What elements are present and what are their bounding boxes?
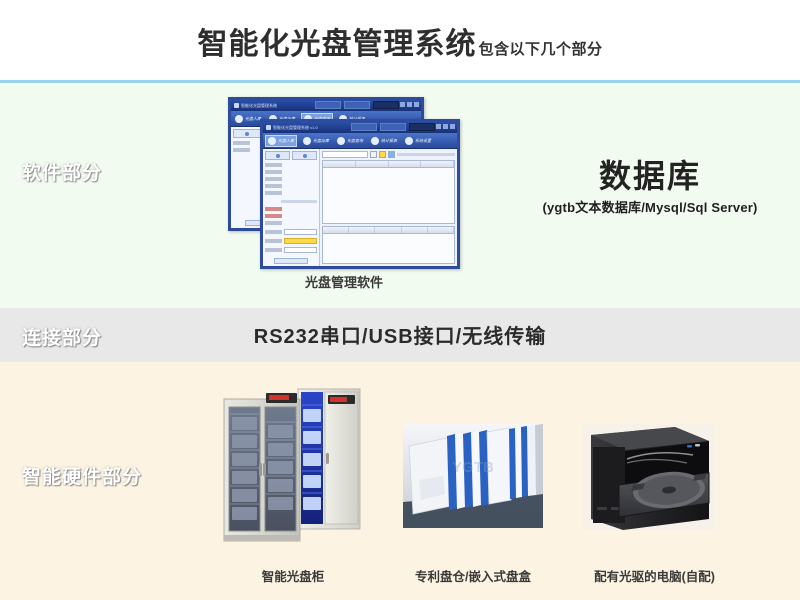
tab-dot-icon [303,154,307,158]
form-field-row-required [265,207,317,211]
database-block: 数据库 (ygtb文本数据库/Mysql/Sql Server) [520,160,780,216]
window-body [263,149,457,266]
window-tab-active[interactable] [373,101,399,109]
folder-icon[interactable] [379,151,386,158]
page-header: 智能化光盘管理系统 包含以下几个部分 [0,0,800,82]
connection-methods-text: RS232串口/USB接口/无线传输 [0,320,800,349]
search-input[interactable] [322,151,368,158]
toolbar-button-label: 系统设置 [415,138,431,144]
software-band-label: 软件部分 [22,158,102,185]
page-subtitle: 包含以下几个部分 [478,38,602,59]
hardware-caption-computer: 配有光驱的电脑(自配) [557,566,752,585]
window-tab[interactable] [351,123,377,131]
report-icon [371,137,379,145]
cabinet-left [224,393,300,541]
software-screenshot-stack: 智能化光盘管理系统 光盘入库 光盘出库 光盘查询 统计报表 [228,97,460,269]
page-title: 智能化光盘管理系统 [197,19,476,63]
toolbar-button-label: 光盘入库 [245,116,261,122]
disc-in-icon [235,115,243,123]
grid-column[interactable] [389,161,422,167]
toolbar-button-label: 光盘出库 [313,138,329,144]
data-grid-body[interactable] [323,168,454,223]
panel-note [281,200,317,203]
software-window-front[interactable]: 智能化光盘管理系统 v1.0 光盘入库 光盘出库 光盘查询 统计报表 系统设置 [260,119,460,269]
window-controls[interactable] [400,102,419,107]
window-titlebar: 智能化光盘管理系统 v1.0 [263,122,457,133]
tab-dot-icon [245,132,249,136]
data-grid-header [323,161,454,168]
watermark-text: YGTB [452,459,494,476]
side-panel-tabs [265,151,317,160]
text-input[interactable] [284,247,317,253]
toolbar-button-label: 统计报表 [381,138,397,144]
field-label [265,170,282,174]
close-icon[interactable] [414,102,419,107]
window-app-icon [234,103,239,108]
hardware-caption-cartridge: 专利盘仓/嵌入式盘盒 [383,566,563,585]
disc-query-icon [337,137,345,145]
required-field-label [265,214,282,218]
grid-column[interactable] [428,227,454,233]
search-bar [322,151,455,158]
window-titlebar: 智能化光盘管理系统 [231,100,421,111]
window-toolbar: 光盘入库 光盘出库 光盘查询 统计报表 系统设置 [263,133,457,149]
computer-optical-drive-image [583,423,715,530]
search-status-text [397,153,455,156]
form-field-row [265,221,317,225]
disc-cartridge-image: YGTB [403,424,543,528]
hardware-caption-cabinet: 智能光盘柜 [203,566,383,585]
field-label [265,177,282,181]
window-title-text: 智能化光盘管理系统 [241,103,277,109]
minimize-icon[interactable] [436,124,441,129]
submit-button[interactable] [274,258,308,264]
form-field-row [265,184,317,188]
side-tab[interactable] [233,129,261,138]
maximize-icon[interactable] [407,102,412,107]
database-title: 数据库 [520,160,780,194]
window-title-text: 智能化光盘管理系统 v1.0 [273,125,318,131]
window-tab[interactable] [380,123,406,131]
grid-column[interactable] [356,161,389,167]
data-grid-top[interactable] [322,160,455,224]
field-label [265,239,282,243]
form-input-row-highlight [265,238,317,244]
side-tab[interactable] [265,151,290,160]
window-app-icon [266,125,271,130]
toolbar-button-label: 光盘查询 [347,138,363,144]
field-label [265,184,282,188]
export-icon[interactable] [388,151,395,158]
field-label [265,191,282,195]
window-controls[interactable] [436,124,455,129]
disc-out-icon [303,137,311,145]
window-tab-active[interactable] [409,123,435,131]
form-field-row [265,177,317,181]
grid-column[interactable] [323,161,356,167]
toolbar-button[interactable]: 统计报表 [369,136,399,146]
field-label [265,163,282,167]
field-label [233,148,250,152]
close-icon[interactable] [450,124,455,129]
minimize-icon[interactable] [400,102,405,107]
window-side-panel [263,149,320,266]
data-grid-body[interactable] [323,234,454,263]
grid-column[interactable] [421,161,454,167]
window-tab-strip [351,123,435,131]
window-tab-strip [315,101,399,109]
form-input-row [265,247,317,253]
window-tab[interactable] [344,101,370,109]
toolbar-button-label: 光盘入库 [278,138,294,144]
side-tab[interactable] [292,151,317,160]
highlighted-input[interactable] [284,238,317,244]
text-input[interactable] [284,229,317,235]
search-icon[interactable] [370,151,377,158]
toolbar-button-selected[interactable]: 光盘入库 [265,135,297,147]
hardware-band-label: 智能硬件部分 [22,462,142,489]
grid-column[interactable] [402,227,428,233]
tab-dot-icon [276,154,280,158]
smart-disc-cabinet-image [218,383,368,546]
form-input-row [265,229,317,235]
data-grid-bottom[interactable] [322,226,455,264]
window-main-panel [320,149,457,266]
grid-column[interactable] [323,227,349,233]
toolbar-button[interactable]: 光盘查询 [335,136,365,146]
cabinet-right [298,389,360,529]
form-field-row [265,191,317,195]
disc-in-icon [268,137,276,145]
gear-icon [405,137,413,145]
field-label [265,230,282,234]
field-label [265,221,282,225]
form-field-row [265,170,317,174]
field-label [233,141,250,145]
data-grid-header [323,227,454,234]
form-field-row-required [265,214,317,218]
maximize-icon[interactable] [443,124,448,129]
required-field-label [265,207,282,211]
toolbar-button[interactable]: 光盘出库 [301,136,331,146]
toolbar-button[interactable]: 光盘入库 [233,114,263,124]
software-caption: 光盘管理软件 [228,272,460,291]
field-label [265,248,282,252]
window-tab[interactable] [315,101,341,109]
form-field-row [265,163,317,167]
toolbar-button[interactable]: 系统设置 [403,136,433,146]
grid-column[interactable] [375,227,401,233]
grid-column[interactable] [349,227,375,233]
database-subtitle: (ygtb文本数据库/Mysql/Sql Server) [520,197,780,216]
